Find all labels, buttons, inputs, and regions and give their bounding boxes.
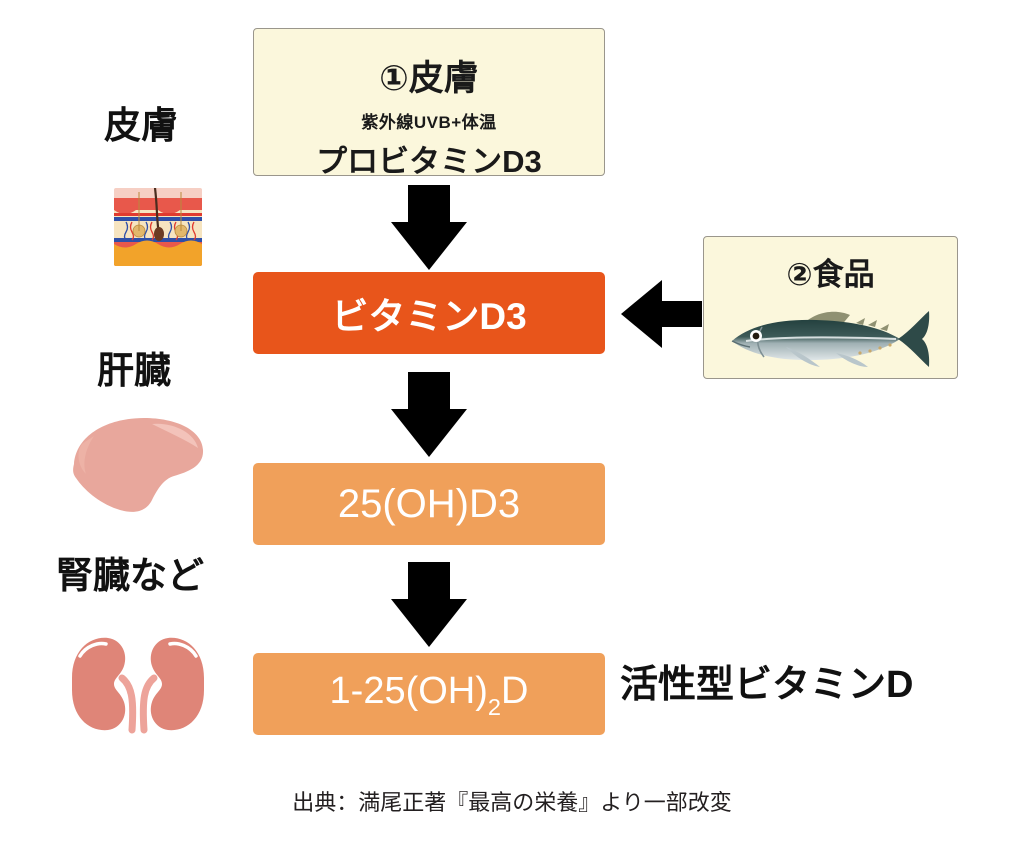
source-box-food-title: ②食品 xyxy=(704,259,957,290)
source-box-skin-subtitle: 紫外線UVB+体温 xyxy=(254,114,604,131)
source-box-skin-title: ①皮膚 xyxy=(254,61,604,96)
liver-icon xyxy=(66,410,210,518)
organ-label-skin: 皮膚 xyxy=(104,107,178,144)
active-vitamin-d-label: 活性型ビタミンD xyxy=(620,666,913,704)
skin-cross-section-icon xyxy=(112,172,204,268)
tuna-fish-icon xyxy=(724,303,939,371)
process-box-125ohd: 1-25(OH)2D xyxy=(253,653,605,735)
process-box-125ohd-label-post: D xyxy=(501,670,528,712)
source-box-skin: ①皮膚 紫外線UVB+体温 プロビタミンD3 xyxy=(253,28,605,176)
process-box-25ohd3-label: 25(OH)D3 xyxy=(338,482,520,527)
source-caption: 出典：満尾正著『最高の栄養』より一部改変 xyxy=(0,792,1024,814)
vitamin-d-metabolism-diagram: 皮膚 xyxy=(0,0,1024,841)
organ-label-liver: 肝臓 xyxy=(97,352,171,389)
process-box-25ohd3: 25(OH)D3 xyxy=(253,463,605,545)
source-box-skin-compound: プロビタミンD3 xyxy=(254,146,604,177)
process-box-125ohd-label-pre: 1-25(OH) xyxy=(330,670,488,712)
source-box-food: ②食品 xyxy=(703,236,958,379)
process-box-125ohd-label-subscript: 2 xyxy=(488,694,501,720)
organ-label-kidney: 腎臓など xyxy=(56,557,204,594)
process-box-vitamin-d3: ビタミンD3 xyxy=(253,272,605,354)
kidneys-icon xyxy=(62,628,214,756)
process-box-125ohd-label: 1-25(OH)2D xyxy=(330,670,529,718)
process-box-vitamin-d3-label: ビタミンD3 xyxy=(331,286,526,340)
